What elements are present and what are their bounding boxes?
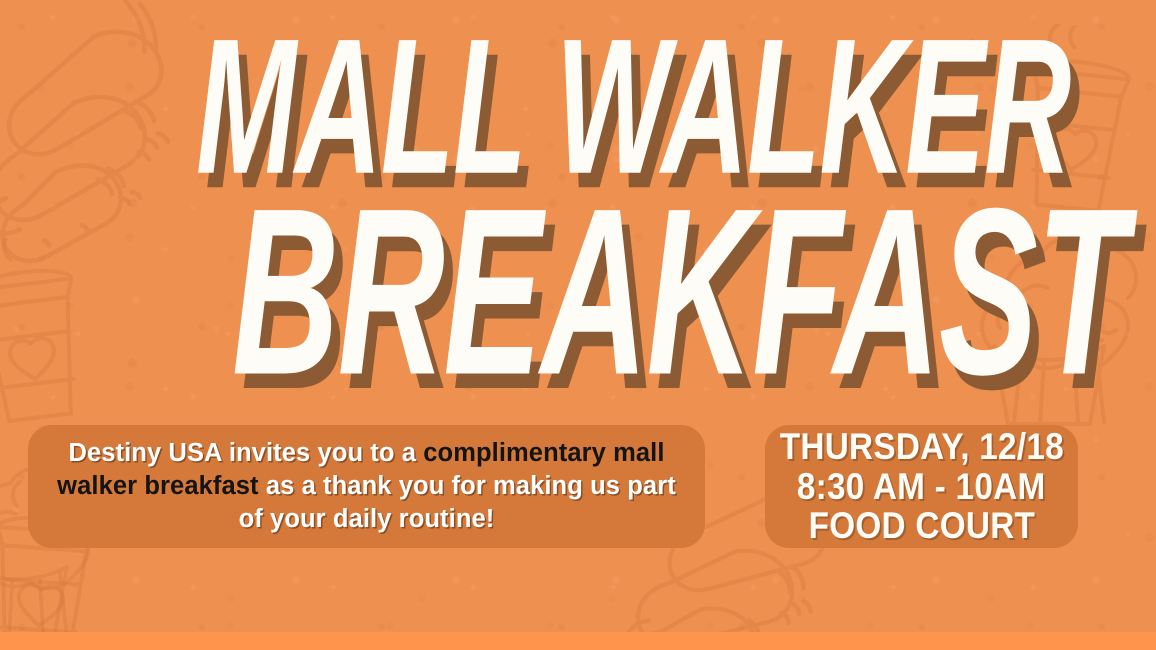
event-time: 8:30 AM - 10AM bbox=[797, 467, 1046, 507]
event-details-panel: THURSDAY, 12/18 8:30 AM - 10AM FOOD COUR… bbox=[765, 425, 1078, 548]
body-copy-segment-1: Destiny USA invites you to a bbox=[68, 439, 423, 467]
coffee-cup-icon bbox=[990, 19, 1156, 234]
body-copy-panel: Destiny USA invites you to a complimenta… bbox=[28, 425, 705, 548]
promotional-poster: MALL WALKER BREAKFAST Destiny USA invite… bbox=[0, 0, 1156, 650]
paper-texture-overlay bbox=[0, 0, 1156, 650]
event-location: FOOD COURT bbox=[808, 506, 1035, 546]
headline-line-1: MALL WALKER bbox=[196, 26, 1070, 188]
bottom-accent-band bbox=[0, 632, 1156, 650]
headline-line-2: BREAKFAST bbox=[232, 192, 1126, 391]
croissant-icon bbox=[0, 0, 209, 275]
body-copy-text: Destiny USA invites you to a complimenta… bbox=[46, 437, 687, 536]
cupcake-icon bbox=[944, 222, 1154, 427]
event-date: THURSDAY, 12/18 bbox=[779, 427, 1063, 467]
coffee-cup-icon bbox=[0, 228, 116, 445]
body-copy-segment-3: as a thank you for making us part of you… bbox=[239, 472, 676, 533]
